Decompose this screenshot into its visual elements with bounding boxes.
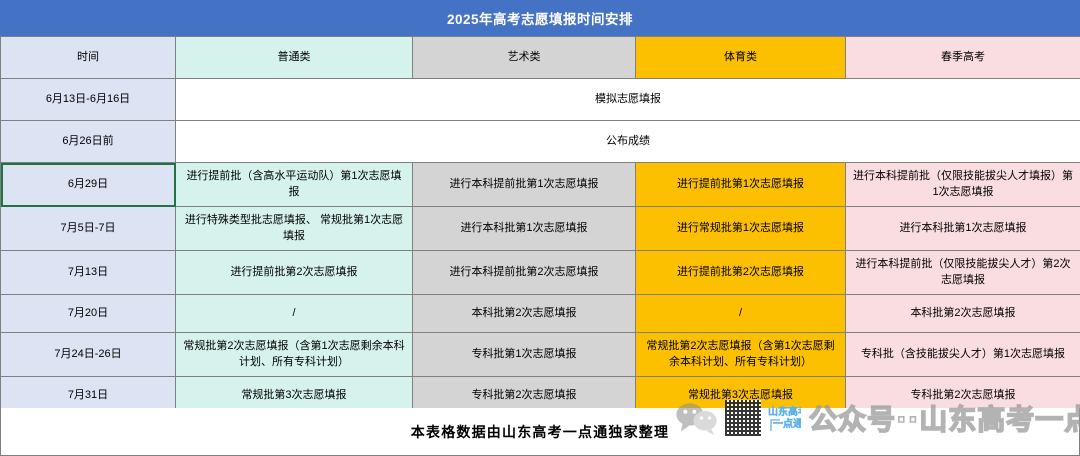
row-time-label: 7月5日-7日 — [1, 207, 176, 251]
table-row: 7月20日 / 本科批第2次志愿填报 / 本科批第2次志愿填报 — [1, 295, 1080, 333]
table-row: 6月29日 进行提前批（含高水平运动队）第1次志愿填报 进行本科提前批第1次志愿… — [1, 163, 1080, 207]
table-row: 7月5日-7日 进行特殊类型批志愿填报、 常规批第1次志愿填报 进行本科批第1次… — [1, 207, 1080, 251]
cell-tiyu: 常规批第2次志愿填报（含第1次志愿剩余本科计划、所有专科计划） — [636, 333, 846, 377]
table-row: 6月26日前 公布成绩 — [1, 121, 1080, 163]
document-root: 山东高考 一点通 2025年高考志愿填报时间安排 时间 普通类 艺术类 体育类 … — [0, 0, 1080, 456]
cell-tiyu: 进行提前批第1次志愿填报 — [636, 163, 846, 207]
cell-tiyu: 进行常规批第1次志愿填报 — [636, 207, 846, 251]
cell-tiyu: / — [636, 295, 846, 333]
page-title: 2025年高考志愿填报时间安排 — [0, 0, 1080, 36]
cell-putong: 常规批第2次志愿填报（含第1次志愿剩余本科计划、所有专科计划） — [176, 333, 413, 377]
cell-yishu: 本科批第2次志愿填报 — [413, 295, 636, 333]
schedule-table: 时间 普通类 艺术类 体育类 春季高考 6月13日-6月16日 模拟志愿填报 6… — [0, 36, 1080, 415]
cell-putong: 进行提前批（含高水平运动队）第1次志愿填报 — [176, 163, 413, 207]
cell-chunji: 本科批第2次志愿填报 — [846, 295, 1080, 333]
cell-putong: 进行提前批第2次志愿填报 — [176, 251, 413, 295]
column-header-putong: 普通类 — [176, 37, 413, 79]
cell-chunji: 进行本科提前批（仅限技能拔尖人才）第2次志愿填报 — [846, 251, 1080, 295]
cell-yishu: 专科批第1次志愿填报 — [413, 333, 636, 377]
table-row: 7月24日-26日 常规批第2次志愿填报（含第1次志愿剩余本科计划、所有专科计划… — [1, 333, 1080, 377]
column-header-yishu: 艺术类 — [413, 37, 636, 79]
cell-yishu: 进行本科批第1次志愿填报 — [413, 207, 636, 251]
cell-chunji: 进行本科提前批（仅限技能拔尖人才填报）第1次志愿填报 — [846, 163, 1080, 207]
cell-putong: / — [176, 295, 413, 333]
column-header-time: 时间 — [1, 37, 176, 79]
table-row: 7月13日 进行提前批第2次志愿填报 进行本科提前批第2次志愿填报 进行提前批第… — [1, 251, 1080, 295]
row-time-label-selected[interactable]: 6月29日 — [1, 163, 176, 207]
row-time-label: 7月24日-26日 — [1, 333, 176, 377]
column-header-chunji: 春季高考 — [846, 37, 1080, 79]
cell-yishu: 进行本科提前批第2次志愿填报 — [413, 251, 636, 295]
table-row: 6月13日-6月16日 模拟志愿填报 — [1, 79, 1080, 121]
footer-note: 本表格数据由山东高考一点通独家整理 — [411, 422, 669, 442]
footer-bar: 本表格数据由山东高考一点通独家整理 — [0, 408, 1080, 456]
cell-tiyu: 进行提前批第2次志愿填报 — [636, 251, 846, 295]
row-time-label: 7月13日 — [1, 251, 176, 295]
row-time-label: 6月26日前 — [1, 121, 176, 163]
row-time-label: 7月20日 — [1, 295, 176, 333]
merged-cell-simulation: 模拟志愿填报 — [176, 79, 1080, 121]
cell-chunji: 专科批（含技能拔尖人才）第1次志愿填报 — [846, 333, 1080, 377]
table-header-row: 时间 普通类 艺术类 体育类 春季高考 — [1, 37, 1080, 79]
cell-putong: 进行特殊类型批志愿填报、 常规批第1次志愿填报 — [176, 207, 413, 251]
cell-chunji: 进行本科批第1次志愿填报 — [846, 207, 1080, 251]
column-header-tiyu: 体育类 — [636, 37, 846, 79]
row-time-label: 6月13日-6月16日 — [1, 79, 176, 121]
cell-yishu: 进行本科提前批第1次志愿填报 — [413, 163, 636, 207]
merged-cell-scores: 公布成绩 — [176, 121, 1080, 163]
